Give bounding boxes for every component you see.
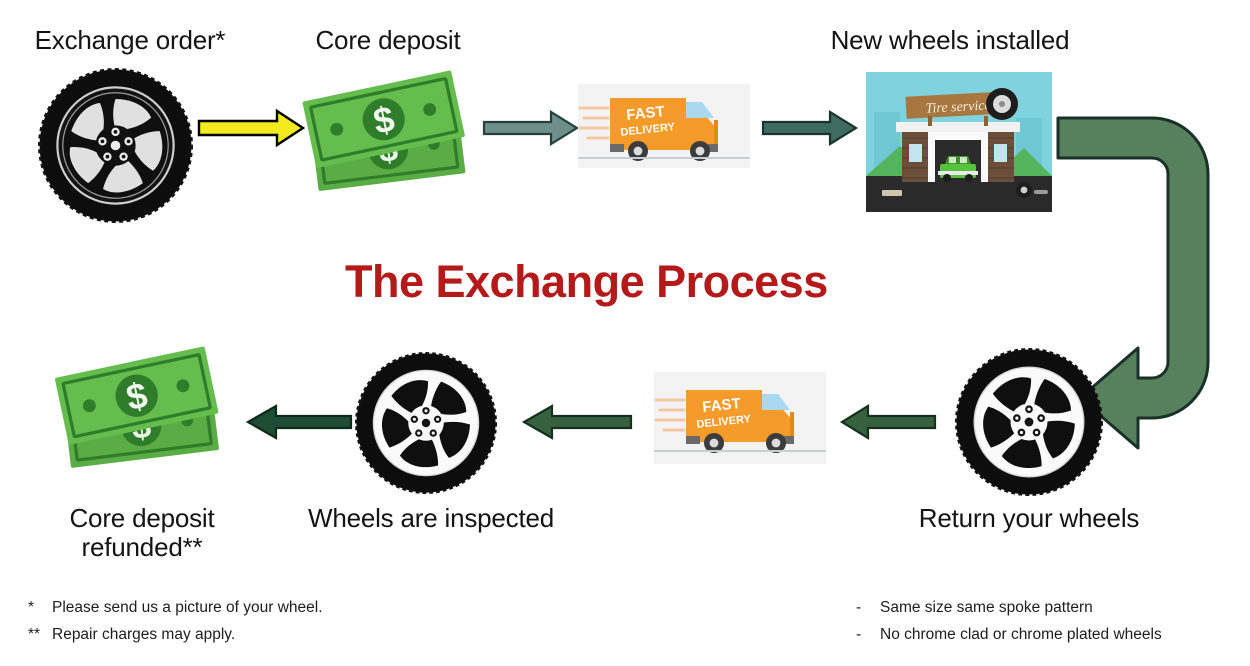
footnote-text: Please send us a picture of your wheel. (52, 594, 323, 621)
footnote-marker: - (856, 621, 880, 648)
node-wheels-are-inspected[interactable] (355, 352, 497, 494)
cash-banknotes-icon: $ $ (52, 348, 234, 484)
caption-return-your-wheels: Return your wheels (884, 504, 1174, 533)
fast-delivery-van-icon: FAST DELIVERY (578, 84, 750, 168)
footnote-item: ** Repair charges may apply. (28, 621, 323, 648)
footnote-item: * Please send us a picture of your wheel… (28, 594, 323, 621)
arrow-right-icon (197, 108, 307, 148)
node-return-shipping[interactable]: FAST DELIVERY (654, 372, 826, 464)
node-core-deposit[interactable]: $ $ (300, 72, 480, 207)
arrow-shipping-to-install (762, 110, 858, 146)
fast-delivery-van-icon: FAST DELIVERY (654, 372, 826, 464)
arrow-right-icon (762, 110, 858, 146)
arrow-left-icon (246, 404, 352, 440)
arrow-left-icon (840, 404, 936, 440)
arrow-order-to-deposit (197, 108, 307, 148)
caption-core-deposit: Core deposit (278, 26, 498, 55)
caption-exchange-order: Exchange order* (10, 26, 250, 55)
silver-alloy-wheel-icon (955, 348, 1103, 496)
arrow-shipping-to-inspect (522, 404, 632, 440)
footnote-item: - Same size same spoke pattern (856, 594, 1162, 621)
tire-service-shop-icon: Tire service (866, 72, 1052, 212)
footnotes-left: * Please send us a picture of your wheel… (28, 594, 323, 648)
node-exchange-order[interactable] (38, 68, 193, 223)
node-outbound-shipping[interactable]: FAST DELIVERY (578, 84, 750, 168)
arrow-right-icon (483, 110, 579, 146)
footnote-text: Repair charges may apply. (52, 621, 235, 648)
arrow-deposit-to-shipping (483, 110, 579, 146)
arrow-return-to-shipping (840, 404, 936, 440)
exchange-process-diagram: Exchange order* Core deposit New wheels … (0, 0, 1250, 666)
cash-banknotes-icon: $ $ (300, 72, 480, 207)
node-new-wheels-installed[interactable]: Tire service (866, 72, 1052, 212)
caption-new-wheels-installed: New wheels installed (800, 26, 1100, 55)
node-core-deposit-refunded[interactable]: $ $ (52, 348, 234, 484)
caption-core-deposit-refunded: Core deposit refunded** (22, 504, 262, 562)
footnotes-right: - Same size same spoke pattern - No chro… (856, 594, 1162, 648)
footnote-marker: - (856, 594, 880, 621)
caption-wheels-are-inspected: Wheels are inspected (296, 504, 566, 533)
footnote-text: No chrome clad or chrome plated wheels (880, 621, 1162, 648)
node-return-your-wheels[interactable] (955, 348, 1103, 496)
black-alloy-wheel-icon (38, 68, 193, 223)
footnote-item: - No chrome clad or chrome plated wheels (856, 621, 1162, 648)
silver-alloy-wheel-icon (355, 352, 497, 494)
arrow-left-icon (522, 404, 632, 440)
footnote-marker: ** (28, 621, 52, 648)
footnote-text: Same size same spoke pattern (880, 594, 1093, 621)
footnote-marker: * (28, 594, 52, 621)
page-title: The Exchange Process (345, 256, 828, 308)
arrow-inspect-to-refund (246, 404, 352, 440)
